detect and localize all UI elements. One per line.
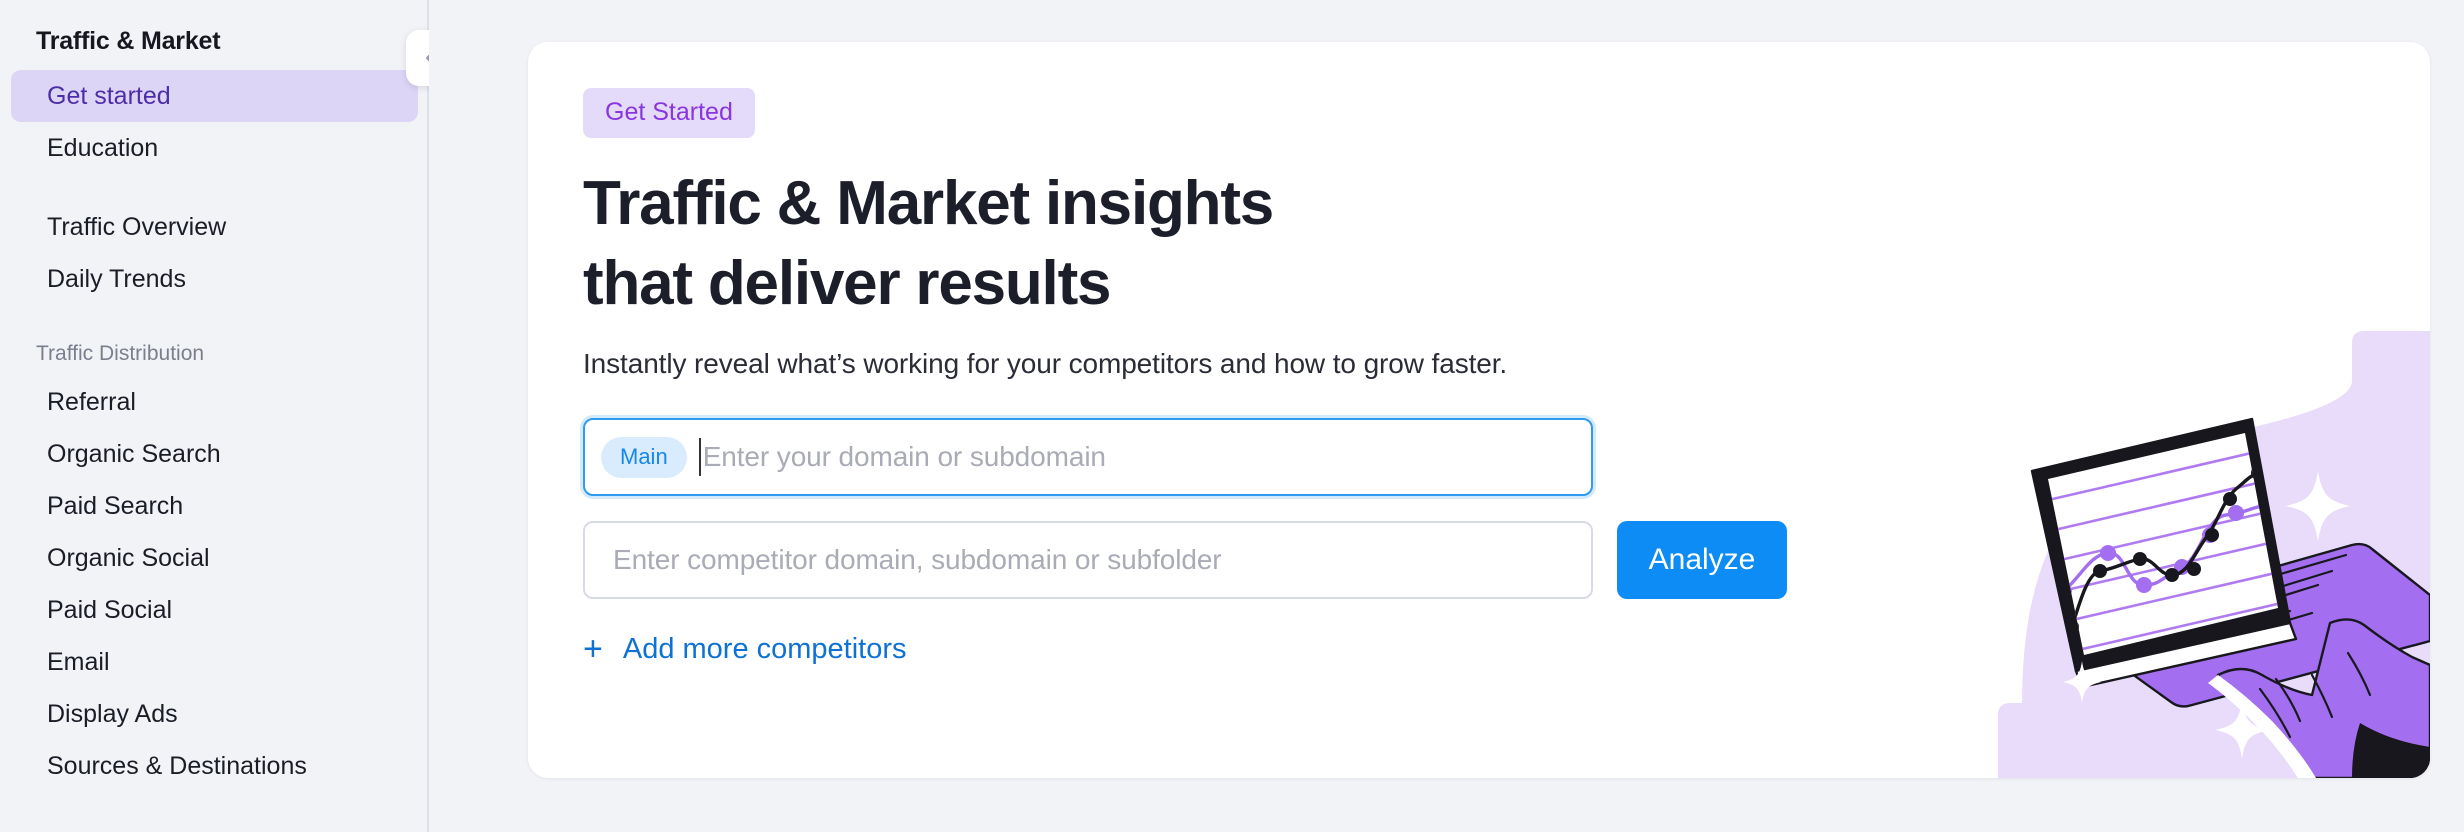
main-domain-placeholder: Enter your domain or subdomain xyxy=(703,440,1106,474)
text-cursor xyxy=(699,438,701,476)
sidebar-item-label: Get started xyxy=(47,70,171,122)
sidebar-item-display-ads[interactable]: Display Ads xyxy=(11,688,418,740)
sidebar-item-label: Organic Search xyxy=(47,428,221,480)
page-title-line-1: Traffic & Market insights xyxy=(583,169,1273,238)
sidebar-item-label: Email xyxy=(47,636,110,688)
page-title-line-2: that deliver results xyxy=(583,249,1110,318)
page-title: Traffic & Market insights that deliver r… xyxy=(583,164,2430,324)
sidebar-item-label: Display Ads xyxy=(47,688,178,740)
sidebar-divider-gap-2 xyxy=(0,305,429,332)
domain-analysis-form: Main Enter your domain or subdomain Ente… xyxy=(583,418,2430,666)
sidebar-item-organic-social[interactable]: Organic Social xyxy=(11,532,418,584)
sidebar-item-label: Traffic Overview xyxy=(47,201,226,253)
sidebar-item-referral[interactable]: Referral xyxy=(11,376,418,428)
main-domain-row: Main Enter your domain or subdomain xyxy=(583,418,2430,496)
sidebar-item-label: Daily Trends xyxy=(47,253,186,305)
sidebar-title: Traffic & Market xyxy=(0,26,429,56)
sidebar-item-label: Referral xyxy=(47,376,136,428)
competitor-domain-placeholder: Enter competitor domain, subdomain or su… xyxy=(601,543,1222,577)
card-body: Get Started Traffic & Market insights th… xyxy=(528,42,2430,666)
main-domain-input[interactable]: Main Enter your domain or subdomain xyxy=(583,418,1593,496)
sidebar-item-email[interactable]: Email xyxy=(11,636,418,688)
sidebar-item-paid-search[interactable]: Paid Search xyxy=(11,480,418,532)
double-chevron-left-icon xyxy=(419,43,429,73)
main-content: Get Started Traffic & Market insights th… xyxy=(429,0,2464,832)
sidebar-divider-gap xyxy=(0,174,429,201)
sidebar-item-sources-destinations[interactable]: Sources & Destinations xyxy=(11,740,418,792)
competitor-domain-row: Enter competitor domain, subdomain or su… xyxy=(583,521,2430,599)
sidebar-item-label: Sources & Destinations xyxy=(47,740,307,792)
competitor-domain-input[interactable]: Enter competitor domain, subdomain or su… xyxy=(583,521,1593,599)
status-badge: Get Started xyxy=(583,88,755,138)
analyze-button[interactable]: Analyze xyxy=(1617,521,1787,599)
add-more-competitors-label: Add more competitors xyxy=(623,632,907,666)
sidebar-collapse-button[interactable] xyxy=(406,30,429,86)
sidebar-section-traffic-distribution: Traffic Distribution xyxy=(0,332,429,376)
sidebar-item-traffic-overview[interactable]: Traffic Overview xyxy=(11,201,418,253)
get-started-card: Get Started Traffic & Market insights th… xyxy=(528,42,2430,778)
sidebar-item-education[interactable]: Education xyxy=(11,122,418,174)
page-subtitle: Instantly reveal what’s working for your… xyxy=(583,346,2430,382)
form-row-gap xyxy=(583,496,2430,521)
sidebar-item-label: Education xyxy=(47,122,158,174)
app-root: Traffic & Market Get started Education T… xyxy=(0,0,2464,832)
main-chip: Main xyxy=(601,437,687,478)
plus-icon: + xyxy=(583,634,603,664)
sidebar-item-organic-search[interactable]: Organic Search xyxy=(11,428,418,480)
sidebar-item-daily-trends[interactable]: Daily Trends xyxy=(11,253,418,305)
sidebar-item-paid-social[interactable]: Paid Social xyxy=(11,584,418,636)
sidebar-item-label: Paid Search xyxy=(47,480,183,532)
sidebar-item-get-started[interactable]: Get started xyxy=(11,70,418,122)
add-more-competitors-button[interactable]: + Add more competitors xyxy=(583,632,907,666)
sidebar: Traffic & Market Get started Education T… xyxy=(0,0,429,832)
sidebar-item-label: Organic Social xyxy=(47,532,210,584)
sidebar-item-label: Paid Social xyxy=(47,584,172,636)
